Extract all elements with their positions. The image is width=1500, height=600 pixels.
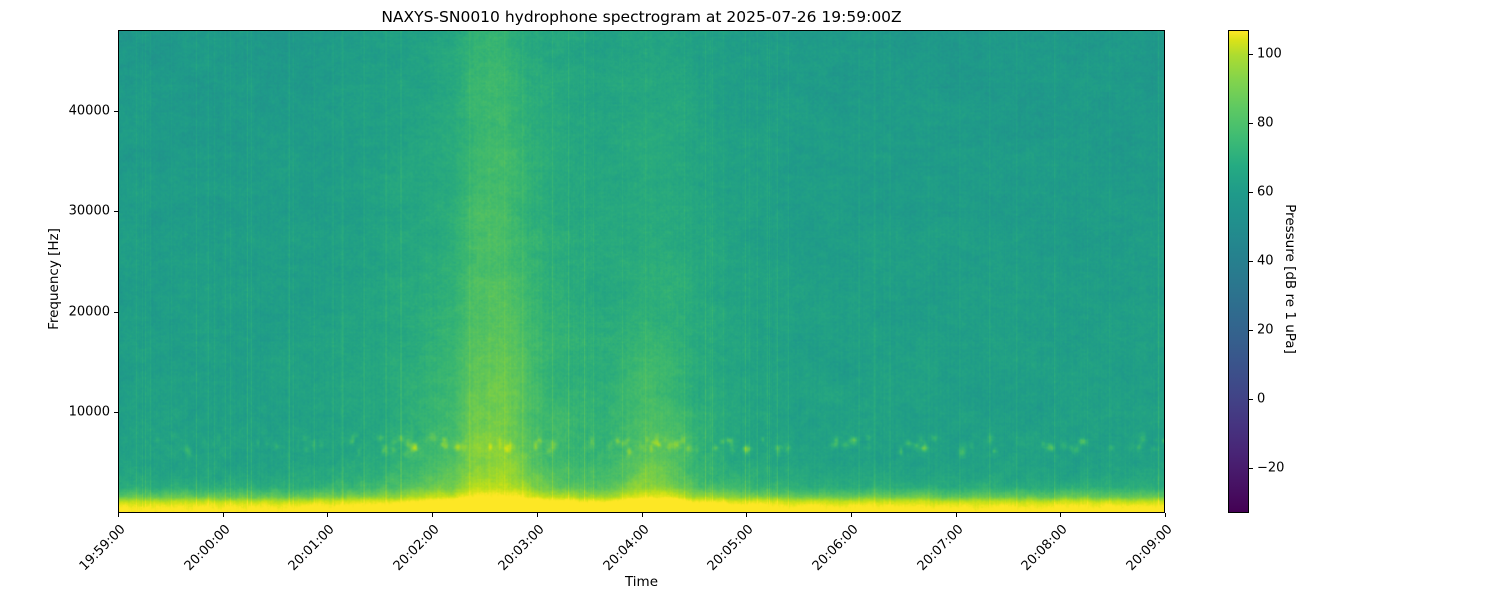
- colorbar-tick-mark: [1249, 468, 1253, 469]
- y-tick-mark: [114, 211, 118, 212]
- colorbar-tick-mark: [1249, 123, 1253, 124]
- colorbar-tick-label: 20: [1257, 323, 1274, 338]
- colorbar-tick-label: 0: [1257, 392, 1265, 407]
- x-tick-mark: [537, 513, 538, 517]
- x-tick-mark: [432, 513, 433, 517]
- y-axis-label: Frequency [Hz]: [46, 219, 62, 339]
- colorbar-tick-label: 40: [1257, 254, 1274, 269]
- x-tick-mark: [956, 513, 957, 517]
- x-tick-mark: [642, 513, 643, 517]
- x-tick-mark: [118, 513, 119, 517]
- colorbar-tick-mark: [1249, 330, 1253, 331]
- colorbar-tick-label: 60: [1257, 185, 1274, 200]
- spectrogram-image[interactable]: [119, 31, 1164, 512]
- colorbar-tick-mark: [1249, 192, 1253, 193]
- spectrogram-plot-area[interactable]: [118, 30, 1165, 513]
- colorbar-tick-mark: [1249, 261, 1253, 262]
- y-tick-label: 40000: [69, 103, 110, 118]
- page-title: NAXYS-SN0010 hydrophone spectrogram at 2…: [118, 8, 1165, 26]
- colorbar-tick-mark: [1249, 399, 1253, 400]
- x-tick-mark: [1165, 513, 1166, 517]
- colorbar-tick-label: 80: [1257, 116, 1274, 131]
- x-tick-mark: [1060, 513, 1061, 517]
- colorbar-tick-mark: [1249, 54, 1253, 55]
- x-axis-label: Time: [118, 574, 1165, 590]
- x-tick-mark: [327, 513, 328, 517]
- colorbar-tick-label: 100: [1257, 47, 1282, 62]
- colorbar-tick-label: −20: [1257, 461, 1284, 476]
- y-tick-label: 30000: [69, 204, 110, 219]
- x-tick-mark: [851, 513, 852, 517]
- colorbar[interactable]: −20020406080100: [1228, 30, 1249, 513]
- y-tick-mark: [114, 412, 118, 413]
- y-tick-mark: [114, 111, 118, 112]
- figure-canvas: NAXYS-SN0010 hydrophone spectrogram at 2…: [0, 0, 1500, 600]
- colorbar-gradient: [1228, 30, 1249, 513]
- y-tick-mark: [114, 312, 118, 313]
- y-tick-label: 20000: [69, 304, 110, 319]
- x-tick-mark: [223, 513, 224, 517]
- colorbar-label: Pressure [dB re 1 uPa]: [1282, 189, 1298, 369]
- x-tick-mark: [746, 513, 747, 517]
- y-tick-label: 10000: [69, 405, 110, 420]
